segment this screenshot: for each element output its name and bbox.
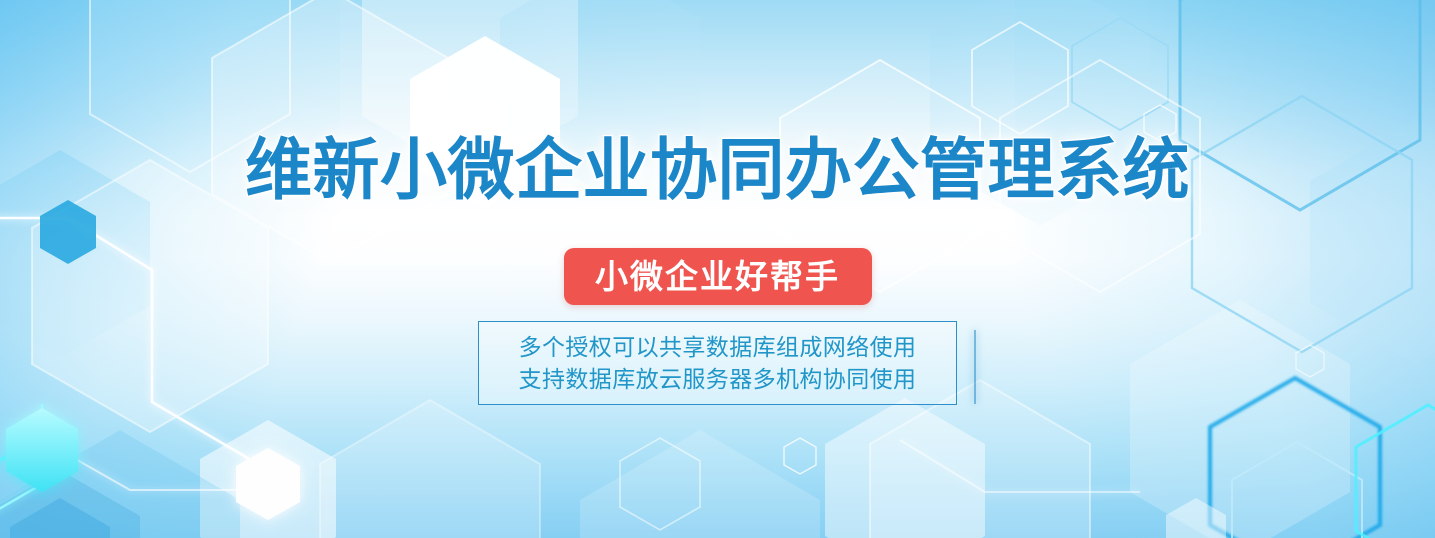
promo-banner: 维新小微企业协同办公管理系统 小微企业好帮手 多个授权可以共享数据库组成网络使用… [0,0,1435,538]
tagline-badge-wrap: 小微企业好帮手 [0,248,1435,305]
description-line-1: 多个授权可以共享数据库组成网络使用 [519,332,917,362]
description-box: 多个授权可以共享数据库组成网络使用 支持数据库放云服务器多机构协同使用 [478,321,957,405]
description-line-2: 支持数据库放云服务器多机构协同使用 [519,364,917,394]
tagline-badge: 小微企业好帮手 [564,248,872,305]
description-wrap: 多个授权可以共享数据库组成网络使用 支持数据库放云服务器多机构协同使用 [0,321,1435,405]
page-title: 维新小微企业协同办公管理系统 [0,137,1435,204]
banner-content: 维新小微企业协同办公管理系统 小微企业好帮手 多个授权可以共享数据库组成网络使用… [0,0,1435,538]
